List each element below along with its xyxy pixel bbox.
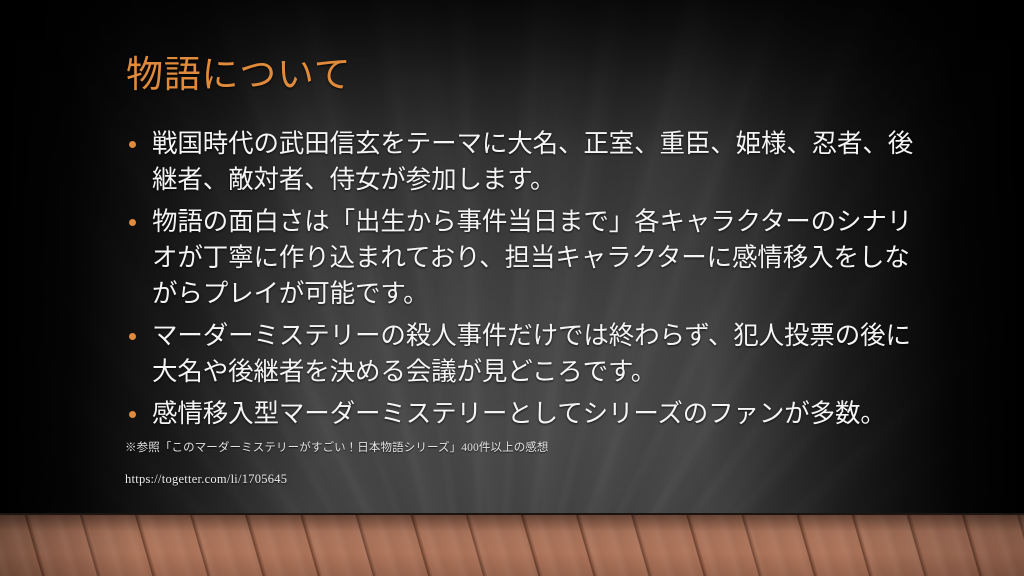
- slide-content: 物語について 戦国時代の武田信玄をテーマに大名、正室、重臣、姫様、忍者、後継者、…: [0, 0, 1024, 576]
- slide-body: 戦国時代の武田信玄をテーマに大名、正室、重臣、姫様、忍者、後継者、敵対者、侍女が…: [124, 126, 914, 488]
- bullet-item: 戦国時代の武田信玄をテーマに大名、正室、重臣、姫様、忍者、後継者、敵対者、侍女が…: [124, 126, 914, 198]
- bullet-item: マーダーミステリーの殺人事件だけでは終わらず、犯人投票の後に大名や後継者を決める…: [124, 318, 914, 390]
- presentation-slide: 物語について 戦国時代の武田信玄をテーマに大名、正室、重臣、姫様、忍者、後継者、…: [0, 0, 1024, 576]
- source-url-link[interactable]: https://togetter.com/li/1705645: [124, 471, 914, 488]
- bullet-list: 戦国時代の武田信玄をテーマに大名、正室、重臣、姫様、忍者、後継者、敵対者、侍女が…: [124, 126, 914, 432]
- bullet-item: 物語の面白さは「出生から事件当日まで」各キャラクターのシナリオが丁寧に作り込まれ…: [124, 204, 914, 312]
- bullet-item: 感情移入型マーダーミステリーとしてシリーズのファンが多数。: [124, 396, 914, 432]
- footnote-text: ※参照「このマーダーミステリーがすごい！日本物語シリーズ」400件以上の感想: [124, 440, 914, 457]
- slide-title: 物語について: [126, 55, 351, 98]
